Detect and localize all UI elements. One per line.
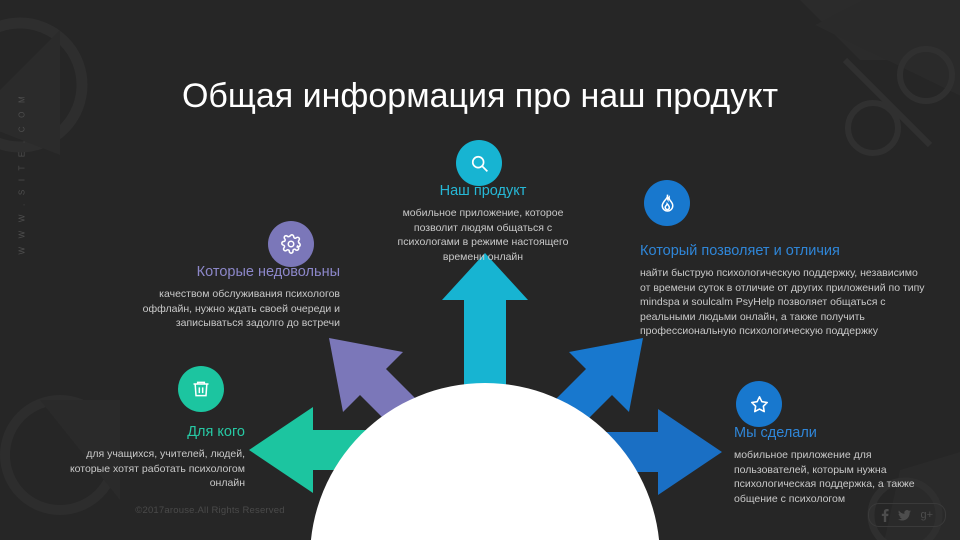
arrow-up-our-product <box>442 253 528 400</box>
star-icon <box>736 381 782 427</box>
block-allows-heading: Который позволяет и отличия <box>640 241 930 261</box>
block-dissatisfied-heading: Которые недовольны <box>110 262 340 282</box>
star-icon-glyph <box>749 394 770 415</box>
facebook-icon[interactable] <box>881 509 889 522</box>
block-allows-body: найти быструю психологическую поддержку,… <box>640 266 930 339</box>
facebook-icon-glyph <box>881 509 889 522</box>
gear-icon-glyph <box>280 233 302 255</box>
block-we-did: Мы сделали мобильное приложение для поль… <box>734 423 949 506</box>
slide-canvas: W W W . S I T E . C O M Общая информация… <box>0 0 960 540</box>
block-dissatisfied: Которые недовольны качеством обслуживани… <box>110 262 340 331</box>
fire-icon-glyph <box>657 193 678 214</box>
block-for-whom: Для кого для учащихся, учителей, людей, … <box>45 422 245 491</box>
twitter-icon-glyph <box>898 510 911 521</box>
twitter-icon[interactable] <box>898 510 911 521</box>
gear-icon <box>268 221 314 267</box>
trash-icon <box>178 366 224 412</box>
search-icon <box>456 140 502 186</box>
trash-icon-glyph <box>191 379 211 399</box>
googleplus-icon[interactable]: g+ <box>920 510 933 521</box>
block-our-product-body: мобильное приложение, которое позволит л… <box>385 206 581 264</box>
block-our-product: Наш продукт мобильное приложение, которо… <box>385 181 581 264</box>
block-for-whom-heading: Для кого <box>45 422 245 442</box>
block-dissatisfied-body: качеством обслуживания психологов оффлай… <box>110 287 340 331</box>
hub-circle <box>310 383 660 540</box>
fire-icon <box>644 180 690 226</box>
block-our-product-heading: Наш продукт <box>385 181 581 201</box>
block-for-whom-body: для учащихся, учителей, людей, которые х… <box>45 447 245 491</box>
block-we-did-heading: Мы сделали <box>734 423 949 443</box>
search-icon-glyph <box>469 153 490 174</box>
block-we-did-body: мобильное приложение для пользователей, … <box>734 448 949 506</box>
social-links[interactable]: g+ <box>868 503 946 527</box>
block-allows-and-differences: Который позволяет и отличия найти быстру… <box>640 241 930 339</box>
copyright-text: ©2017arouse.All Rights Reserved <box>60 505 360 516</box>
